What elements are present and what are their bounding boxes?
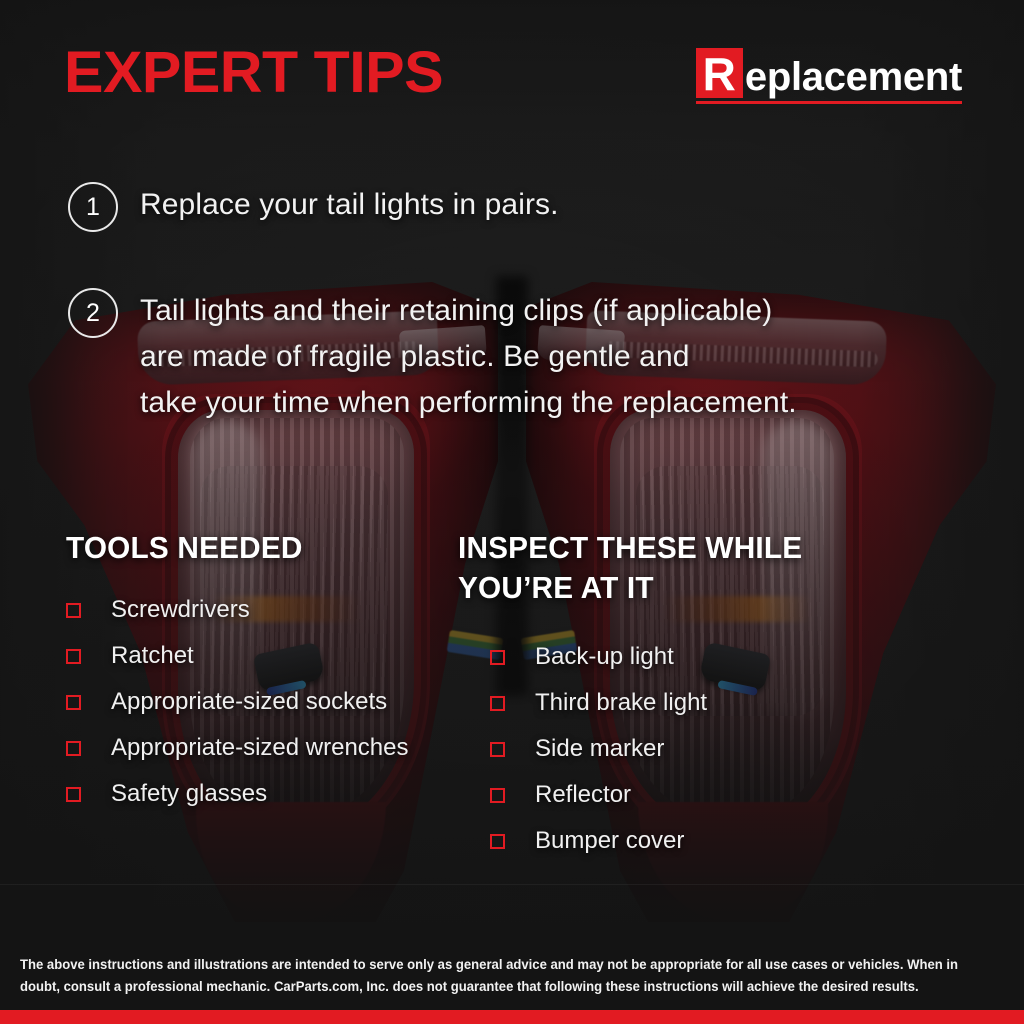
list-item-label: Screwdrivers bbox=[111, 598, 250, 622]
page-title: EXPERT TIPS bbox=[64, 44, 443, 102]
checkbox-square-icon bbox=[490, 788, 505, 803]
list-item: Ratchet bbox=[66, 644, 408, 668]
checkbox-square-icon bbox=[490, 742, 505, 757]
logo-wordmark: R eplacement bbox=[696, 48, 962, 99]
expert-tips-infographic: EXPERT TIPS R eplacement 1 Replace your … bbox=[0, 0, 1024, 1024]
list-item-label: Reflector bbox=[535, 783, 631, 807]
footer-divider bbox=[0, 884, 1024, 885]
list-item: Side marker bbox=[490, 737, 707, 761]
list-item: Appropriate-sized sockets bbox=[66, 690, 408, 714]
list-item: Reflector bbox=[490, 783, 707, 807]
list-item-label: Appropriate-sized wrenches bbox=[111, 736, 408, 760]
checkbox-square-icon bbox=[490, 696, 505, 711]
list-item: Appropriate-sized wrenches bbox=[66, 736, 408, 760]
tip-number-badge: 2 bbox=[68, 288, 118, 338]
tip-item-2: 2 Tail lights and their retaining clips … bbox=[68, 288, 797, 426]
inspect-these-heading: INSPECT THESE WHILE YOU’RE AT IT bbox=[458, 528, 842, 608]
tip-number-badge: 1 bbox=[68, 182, 118, 232]
list-item-label: Ratchet bbox=[111, 644, 194, 668]
list-item-label: Third brake light bbox=[535, 691, 707, 715]
inspect-these-list: Back-up light Third brake light Side mar… bbox=[490, 645, 707, 875]
list-item: Bumper cover bbox=[490, 829, 707, 853]
logo-underline bbox=[696, 101, 962, 104]
list-item-label: Side marker bbox=[535, 737, 664, 761]
checkbox-square-icon bbox=[66, 695, 81, 710]
list-item-label: Back-up light bbox=[535, 645, 674, 669]
checkbox-square-icon bbox=[490, 650, 505, 665]
checkbox-square-icon bbox=[66, 603, 81, 618]
list-item-label: Bumper cover bbox=[535, 829, 684, 853]
list-item: Safety glasses bbox=[66, 782, 408, 806]
tip-item-1: 1 Replace your tail lights in pairs. bbox=[68, 182, 559, 232]
list-item: Third brake light bbox=[490, 691, 707, 715]
list-item: Screwdrivers bbox=[66, 598, 408, 622]
checkbox-square-icon bbox=[66, 787, 81, 802]
footer-accent-bar bbox=[0, 1010, 1024, 1024]
checkbox-square-icon bbox=[66, 741, 81, 756]
list-item-label: Safety glasses bbox=[111, 782, 267, 806]
checkbox-square-icon bbox=[66, 649, 81, 664]
logo-word: eplacement bbox=[745, 55, 962, 99]
replacement-logo: R eplacement bbox=[696, 48, 962, 104]
list-item-label: Appropriate-sized sockets bbox=[111, 690, 387, 714]
disclaimer-text: The above instructions and illustrations… bbox=[20, 954, 974, 998]
list-item: Back-up light bbox=[490, 645, 707, 669]
tip-text: Tail lights and their retaining clips (i… bbox=[140, 288, 797, 426]
tip-text: Replace your tail lights in pairs. bbox=[140, 182, 559, 228]
tools-needed-list: Screwdrivers Ratchet Appropriate-sized s… bbox=[66, 598, 408, 828]
footer-disclaimer: The above instructions and illustrations… bbox=[0, 940, 1024, 1010]
tools-needed-heading: TOOLS NEEDED bbox=[66, 528, 303, 568]
logo-initial-badge: R bbox=[696, 48, 743, 98]
checkbox-square-icon bbox=[490, 834, 505, 849]
